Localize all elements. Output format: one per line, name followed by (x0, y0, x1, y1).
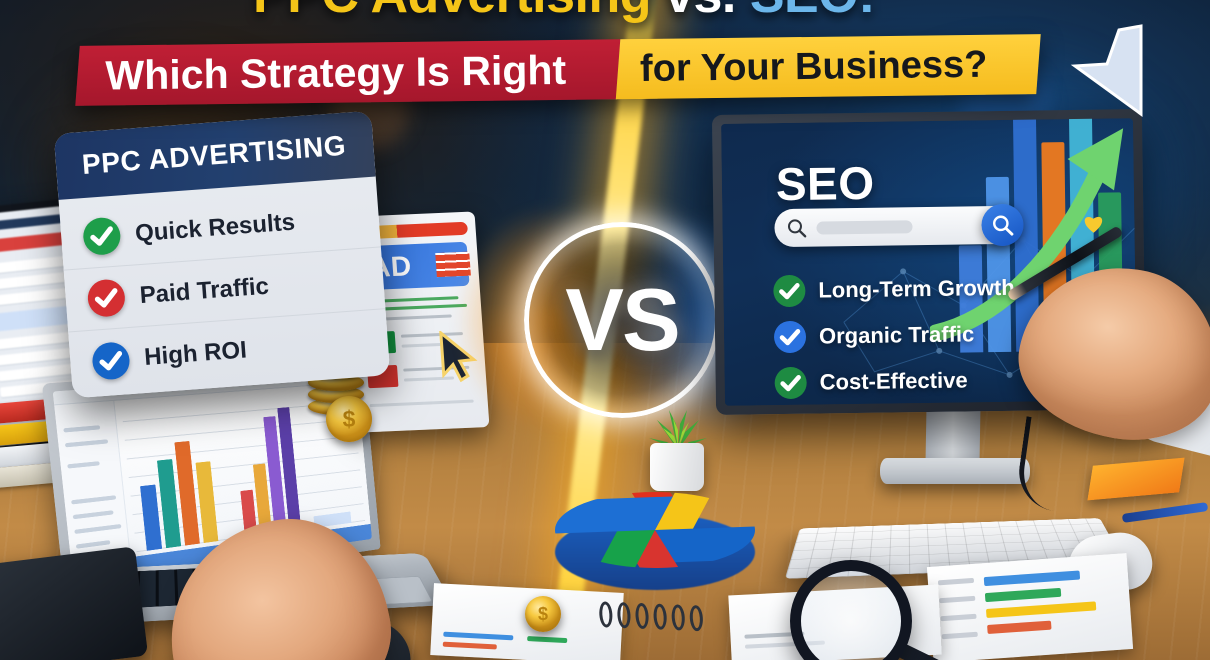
pie-chart-top (555, 492, 755, 568)
list-item[interactable]: Organic Traffic (774, 318, 1016, 353)
report-bar (940, 614, 976, 621)
spiral-ring (598, 601, 613, 628)
magnifying-glass (790, 560, 930, 660)
subtitle-banner-yellow: for Your Business? (616, 34, 1041, 99)
magnifier-icon (786, 218, 806, 238)
list-item-label: Organic Traffic (819, 321, 975, 349)
mouse-cursor-icon (1063, 18, 1149, 122)
subtitle-text-right: for Your Business? (640, 43, 988, 90)
report-bar (443, 642, 497, 650)
monitor-foot (880, 458, 1030, 484)
report-bar (527, 636, 567, 643)
check-circle-icon (87, 278, 127, 318)
subtitle-text-left: Which Strategy Is Right (105, 46, 566, 99)
ppc-benefit-list: Quick Results Paid Traffic High ROI (59, 177, 391, 399)
seo-panel-title: SEO (776, 156, 875, 211)
title-part-vs: vs. (665, 0, 736, 25)
report-bar (938, 578, 974, 585)
sidebar-line (74, 524, 121, 534)
check-circle-icon (774, 367, 806, 399)
ppc-card-title: PPC ADVERTISING (81, 130, 347, 181)
subtitle-banner: Which Strategy Is Right for Your Busines… (75, 34, 1040, 106)
search-bar[interactable] (774, 206, 1018, 247)
coin-on-desk: $ (525, 596, 561, 632)
heart-icon (1082, 214, 1104, 234)
spiral-ring (689, 605, 704, 632)
page-title: PPC Advertising vs. SEO: (84, 0, 1044, 24)
report-bar (984, 570, 1080, 586)
poster-canvas: AD $ PPC ADVERTISING (0, 0, 1210, 660)
sidebar-line (73, 510, 114, 519)
search-input[interactable] (816, 220, 912, 234)
title-part-seo: SEO: (750, 0, 875, 25)
list-item-label: Quick Results (134, 208, 296, 248)
report-bar (942, 632, 978, 639)
report-bar (443, 632, 513, 641)
report-paper (927, 553, 1133, 660)
list-item[interactable]: Long-Term Growth (773, 272, 1015, 307)
coin-front: $ (326, 396, 372, 442)
report-bar (939, 596, 975, 603)
sidebar-line (65, 439, 108, 447)
spiral-notebook (594, 588, 718, 656)
pie-slice (555, 496, 673, 534)
plant-pot (650, 443, 704, 491)
check-circle-icon (82, 216, 122, 256)
versus-label: VS (524, 222, 720, 418)
pie-chart-3d (551, 488, 759, 598)
check-circle-icon (774, 321, 806, 353)
sidebar-line (63, 425, 100, 432)
sidebar-line (76, 540, 111, 549)
magnifier-icon (991, 214, 1013, 236)
list-item-label: Paid Traffic (139, 272, 270, 309)
check-circle-icon (91, 341, 131, 381)
spiral-ring (653, 603, 668, 630)
list-item[interactable]: Cost-Effective (774, 364, 1016, 399)
seo-benefit-list: Long-Term Growth Organic Traffic Cost-Ef… (773, 272, 1016, 406)
magnifier-lens (790, 560, 912, 660)
list-item-label: Cost-Effective (819, 367, 967, 395)
spiral-ring (671, 604, 686, 631)
report-bar (985, 588, 1061, 602)
smartphone (0, 546, 148, 660)
list-item-label: High ROI (143, 336, 247, 371)
subtitle-banner-red: Which Strategy Is Right (75, 39, 620, 106)
ppc-advertising-card[interactable]: PPC ADVERTISING Quick Results Paid Traff… (54, 111, 391, 399)
spiral-ring (617, 602, 632, 629)
list-item-label: Long-Term Growth (818, 275, 1015, 304)
sidebar-line (67, 461, 100, 468)
report-bar (986, 601, 1096, 618)
title-part-ppc: PPC Advertising (253, 0, 651, 25)
check-circle-icon (773, 275, 805, 307)
spiral-ring (635, 603, 650, 630)
sidebar-line (71, 495, 116, 504)
report-bar (987, 621, 1051, 634)
